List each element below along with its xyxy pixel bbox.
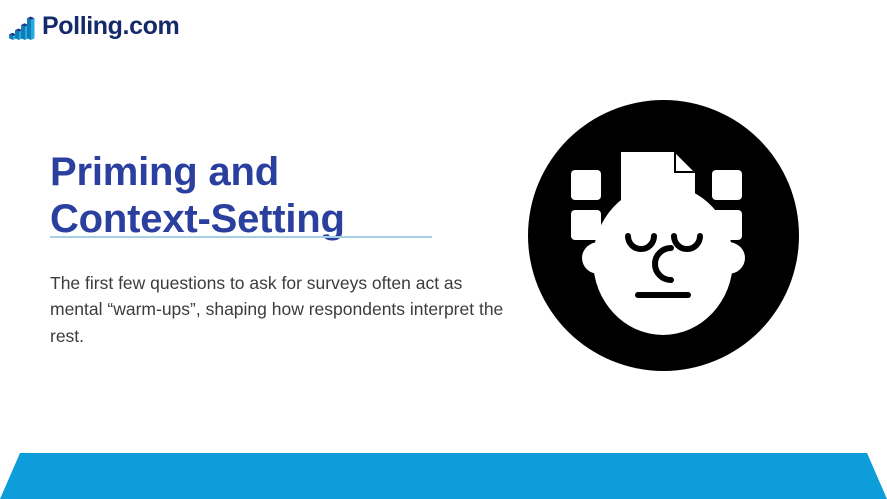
bar-chart-logo-icon (8, 11, 36, 41)
page-title: Priming and Context-Setting (50, 149, 470, 243)
slide-canvas: Polling.com Priming and Context-Setting … (0, 0, 887, 499)
brand-logo-text: Polling.com (42, 14, 179, 39)
bottom-accent-banner (0, 453, 887, 499)
body-paragraph: The first few questions to ask for surve… (50, 270, 510, 350)
title-divider (50, 236, 432, 238)
side-square-left-bottom (571, 210, 601, 240)
head-with-document-icon (528, 100, 799, 371)
side-square-left-top (571, 170, 601, 200)
banner-trapezoid (0, 453, 887, 499)
brand-logo[interactable]: Polling.com (8, 9, 179, 43)
head-face (593, 185, 733, 335)
side-square-right-top (712, 170, 742, 200)
